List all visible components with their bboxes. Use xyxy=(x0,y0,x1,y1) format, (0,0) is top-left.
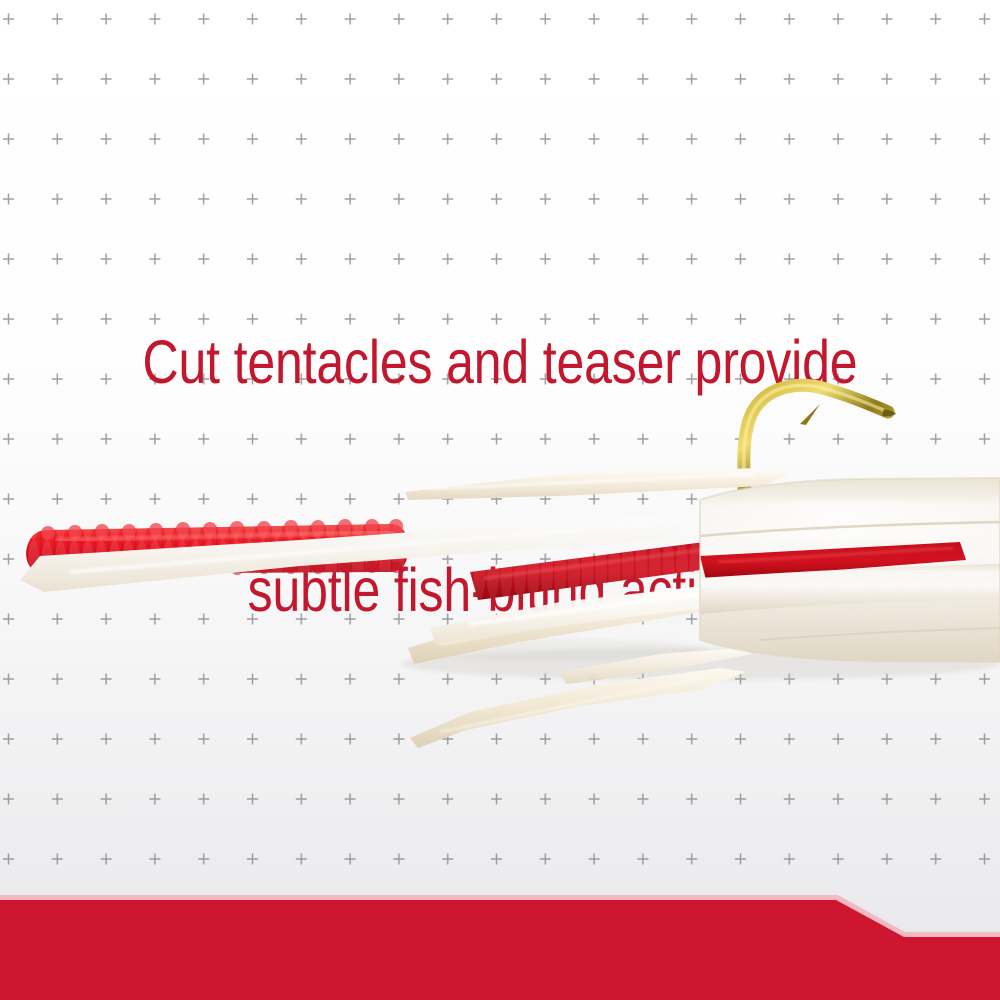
bottom-banner: YOUR FISH. OUR SCIENCE. xyxy=(0,880,1000,1000)
headline-line-2: subtle fish-biting action xyxy=(90,552,910,628)
headline-line-1: Cut tentacles and teaser provide xyxy=(90,324,910,400)
page-headline: Cut tentacles and teaser provide subtle … xyxy=(90,172,910,780)
banner-red-shape xyxy=(0,900,1000,1000)
product-feature-card: Cut tentacles and teaser provide subtle … xyxy=(0,0,1000,1000)
